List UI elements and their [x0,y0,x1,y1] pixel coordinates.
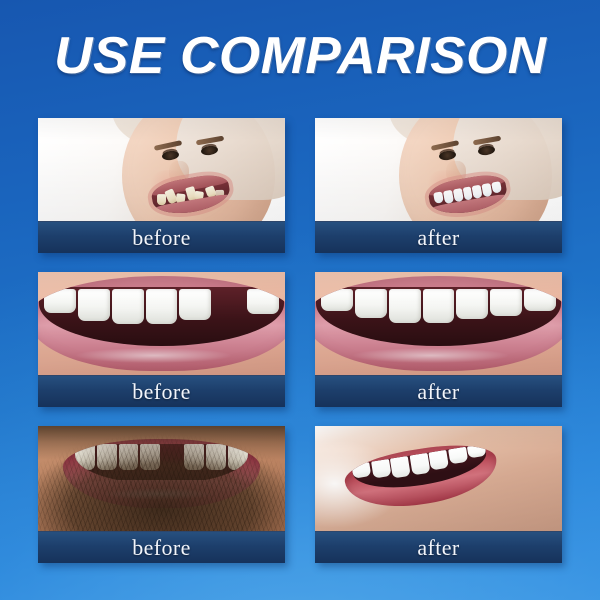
tooth [472,184,483,199]
tooth [355,289,387,318]
panel-row3-after[interactable]: after [315,426,562,563]
comparison-row: before [38,426,562,563]
tooth [423,289,455,323]
lips-shape [315,276,562,371]
panel-row2-after[interactable]: after [315,272,562,407]
comparison-row: before [38,272,562,407]
tooth [491,181,502,194]
title-container: USE COMPARISON [0,0,600,112]
tooth [442,189,453,204]
panel-row3-before[interactable]: before [38,426,285,563]
scene-woman-after [315,118,562,221]
tooth [44,289,76,313]
comparison-grid: before [38,118,562,563]
tooth [428,450,448,470]
tooth [490,289,522,316]
caption-label-after: after [417,227,459,249]
scene-smile-gap [38,272,285,375]
caption-bar: after [315,221,562,253]
teeth-with-gap [44,289,280,325]
tooth [432,191,443,204]
page-title: USE COMPARISON [54,26,546,86]
caption-label-after: after [417,537,459,559]
scene-smile-full [315,272,562,375]
photo-row1-after [315,118,562,221]
tooth [447,447,467,464]
caption-bar: after [315,375,562,407]
caption-bar: before [38,221,285,253]
tooth [524,289,556,312]
lips-shape [38,276,285,371]
tooth [179,289,211,320]
mouth-interior [316,287,561,346]
tooth [481,182,492,197]
photo-row3-before [38,426,285,531]
tooth [389,289,421,323]
tooth [247,289,279,314]
scene-bearded-before [38,426,285,531]
tooth [456,289,488,320]
tooth [78,289,110,321]
tooth [462,186,473,201]
caption-bar: before [38,531,285,563]
photo-row2-before [38,272,285,375]
lip-gloss-highlight [76,348,231,363]
mouth-interior [39,287,284,346]
tooth [409,453,430,475]
beard-texture [38,426,285,531]
teeth-complete [321,289,557,325]
scene-woman-before [38,118,285,221]
scene-man-after [315,426,562,531]
photo-row1-before [38,118,285,221]
panel-row2-before[interactable]: before [38,272,285,407]
tooth [370,459,390,479]
tooth [390,456,411,478]
caption-bar: before [38,375,285,407]
caption-label-before: before [132,537,191,559]
tooth [321,289,353,312]
tooth [156,194,165,205]
tooth [112,289,144,324]
panel-row1-after[interactable]: after [315,118,562,253]
tooth [146,289,178,324]
lip-gloss-highlight [353,348,508,363]
panel-row1-before[interactable]: before [38,118,285,253]
photo-row3-after [315,426,562,531]
comparison-row: before [38,118,562,253]
tooth [351,463,371,479]
caption-label-before: before [132,227,191,249]
photo-row2-after [315,272,562,375]
caption-label-after: after [417,381,459,403]
tooth [467,444,487,458]
comparison-poster: USE COMPARISON [0,0,600,600]
caption-bar: after [315,531,562,563]
caption-label-before: before [132,381,191,403]
tooth [452,188,463,203]
